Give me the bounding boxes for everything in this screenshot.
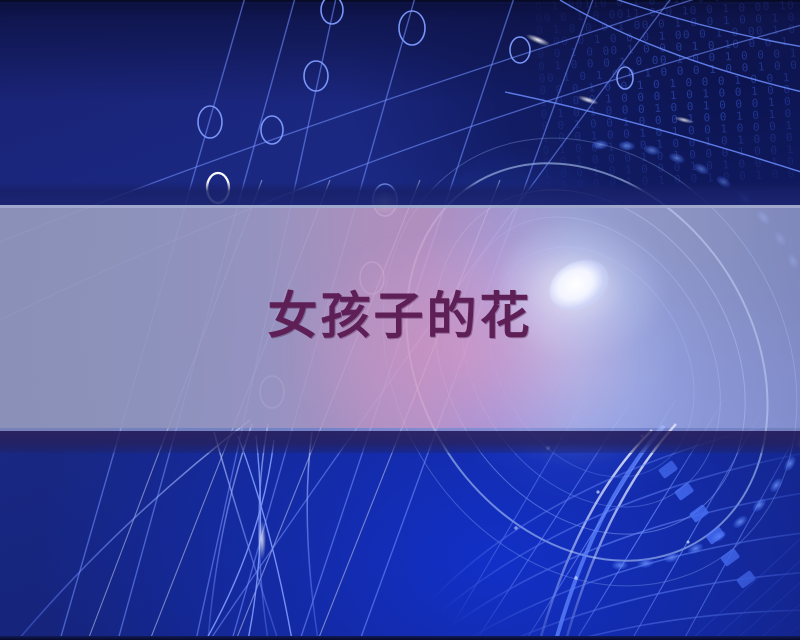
banner-bottom-strip [0, 431, 800, 453]
slide-canvas: 0 1 00110 0 1 0 010 0 00 1 0100 00 0 1 0… [0, 0, 800, 640]
bottom-edge-line [0, 636, 800, 640]
page-title: 女孩子的花 [0, 288, 800, 344]
